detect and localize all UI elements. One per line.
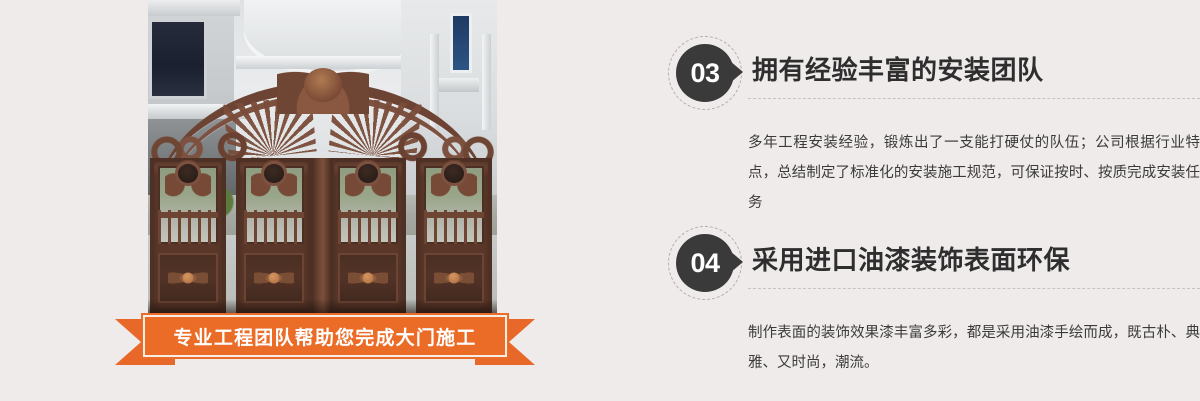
gate-panel (236, 158, 312, 313)
feature-title: 拥有经验丰富的安装团队 (752, 50, 1044, 87)
feature-number-badge: 04 (676, 234, 734, 292)
crown-curl-left (214, 128, 260, 162)
gate-panel-rosette-center (449, 273, 460, 284)
gate-crown-ornament (148, 56, 497, 174)
ribbon-label: 专业工程团队帮助您完成大门施工 (173, 323, 476, 350)
gate-panel-rosette-center (363, 273, 374, 284)
badge-pointer-icon (730, 61, 743, 83)
gate-panel-lower (424, 253, 484, 303)
gate-photo-scene (148, 0, 497, 313)
ribbon-banner: 专业工程团队帮助您完成大门施工 (115, 313, 535, 365)
crown-medallion (304, 68, 342, 102)
feature-header: 03 拥有经验丰富的安装团队 (660, 32, 1200, 114)
crown-curl-right (385, 128, 431, 162)
gate-panel-crest-center (444, 164, 464, 183)
feature-number-badge: 03 (676, 44, 734, 102)
feature-body-text: 多年工程安装经验，锻炼出了一支能打硬仗的队伍；公司根据行业特点，总结制定了标准化… (748, 128, 1200, 218)
gate-panel-crest-center (264, 164, 284, 183)
gate-panel-crest-center (358, 164, 378, 183)
feature-divider (748, 98, 1200, 99)
ribbon-body: 专业工程团队帮助您完成大门施工 (141, 313, 509, 359)
gate-panel-lower (338, 253, 398, 303)
left-visual-pane: 专业工程团队帮助您完成大门施工 (0, 0, 640, 401)
gate-panel-lower (244, 253, 304, 303)
feature-block-04: 04 采用进口油漆装饰表面环保 制作表面的装饰效果漆丰富多彩，都是采用油漆手绘而… (660, 222, 1200, 378)
gate-panel-crest-center (178, 164, 198, 183)
gate-panel-rosette-center (269, 273, 280, 284)
badge-pointer-icon (730, 251, 743, 273)
gate-panel (150, 158, 226, 313)
gate-panel-rosette-center (183, 273, 194, 284)
features-pane: 03 拥有经验丰富的安装团队 多年工程安装经验，锻炼出了一支能打硬仗的队伍；公司… (660, 0, 1200, 401)
feature-title: 采用进口油漆装饰表面环保 (752, 240, 1070, 277)
gate-panels (148, 158, 497, 313)
gate-bottom-shadow (148, 299, 497, 313)
gate-panel (330, 158, 406, 313)
feature-block-03: 03 拥有经验丰富的安装团队 多年工程安装经验，锻炼出了一支能打硬仗的队伍；公司… (660, 32, 1200, 218)
gate-center-mullion (312, 158, 332, 313)
feature-body-text: 制作表面的装饰效果漆丰富多彩，都是采用油漆手绘而成，既古朴、典雅、又时尚，潮流。 (748, 318, 1200, 378)
feature-number: 03 (690, 60, 719, 87)
feature-number: 04 (690, 250, 719, 277)
gate-photo (148, 0, 497, 313)
feature-divider (748, 288, 1200, 289)
feature-header: 04 采用进口油漆装饰表面环保 (660, 222, 1200, 304)
gate-panel-lower (158, 253, 218, 303)
building-left-cornice (148, 0, 240, 16)
gate-panel (416, 158, 492, 313)
